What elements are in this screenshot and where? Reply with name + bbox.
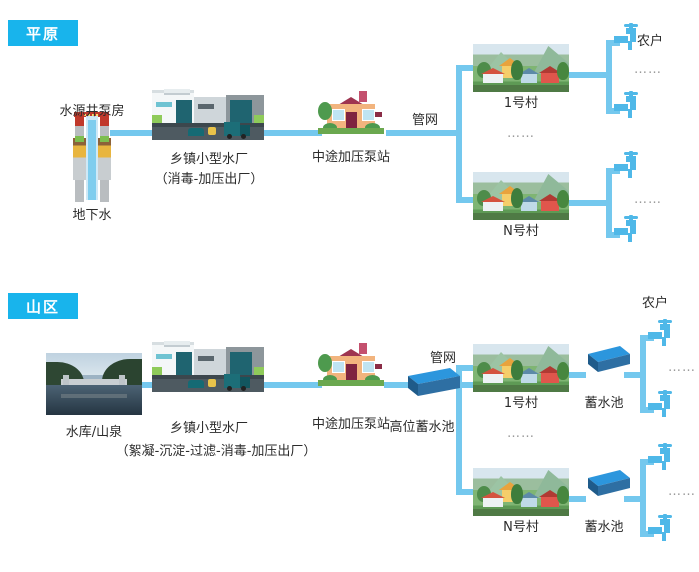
faucet-icon-plain-4 xyxy=(608,214,644,244)
diagram-canvas: 平原 水源井泵房 地下水 xyxy=(0,0,699,572)
house-window-right xyxy=(362,361,375,373)
plant-vent xyxy=(164,89,190,95)
village-ground xyxy=(473,509,569,516)
well-grass-right xyxy=(100,136,109,142)
plant-window-left xyxy=(156,354,172,359)
household-label-plain: 农户 xyxy=(637,34,663,50)
village-wall-white-left xyxy=(483,74,503,83)
village-ellipsis-plain: …… xyxy=(507,126,535,141)
village-house-white-left xyxy=(481,492,505,506)
plant-truck-trailer xyxy=(224,374,240,388)
high-tank-label: 高位蓄水池 xyxy=(389,420,454,436)
village-tree-right xyxy=(557,362,569,380)
village-label-plain-1: 1号村 xyxy=(504,96,538,112)
pipe-plant-to-booster xyxy=(262,130,322,136)
village-tree-right xyxy=(557,62,569,80)
house-window-right xyxy=(362,109,375,121)
tank-shape xyxy=(582,470,630,498)
pipe-plant-to-booster-m xyxy=(262,382,322,388)
source-label-mountain: 水库/山泉 xyxy=(66,425,122,441)
tank-shape xyxy=(398,368,460,398)
faucet-icon-mountain-4 xyxy=(642,513,678,543)
plant-truck-trailer xyxy=(224,122,240,136)
house-door xyxy=(346,112,357,129)
plant-truck-wheel-1 xyxy=(227,134,232,139)
plant-wing-mid xyxy=(194,97,226,123)
plant-truck-wheel-1 xyxy=(227,386,232,391)
plant-vent xyxy=(164,341,190,347)
village-tree-mid xyxy=(511,188,523,208)
village-house-white-left xyxy=(481,68,505,82)
plant-label-plain: 乡镇小型水厂 xyxy=(170,152,248,168)
village-house-white-left xyxy=(481,368,505,382)
plant-truck-wheel-2 xyxy=(241,134,246,139)
well-grass-left xyxy=(75,136,84,142)
house-ground xyxy=(318,128,384,134)
plant-bush-right xyxy=(254,115,264,123)
village-label-mountain-n: N号村 xyxy=(503,520,539,536)
booster-label-mountain: 中途加压泵站 xyxy=(312,417,390,433)
village-wall-white-left xyxy=(483,498,503,507)
network-label-plain: 管网 xyxy=(412,113,438,129)
tap-ellipsis-plain-2: …… xyxy=(634,192,662,207)
plant-truck-wheel-2 xyxy=(241,386,246,391)
plant-car-yellow xyxy=(208,127,216,135)
village-icon-plain-1 xyxy=(473,44,569,92)
well-water-column xyxy=(88,120,96,200)
village-ground xyxy=(473,85,569,92)
faucet-icon-mountain-1 xyxy=(642,318,678,348)
village-icon-plain-n xyxy=(473,172,569,220)
village-label-plain-n: N号村 xyxy=(503,224,539,240)
plant-door-right xyxy=(230,352,252,375)
source-label-plain: 水源井泵房 xyxy=(59,104,124,120)
village-tree-mid xyxy=(511,360,523,380)
plant-door-left xyxy=(176,100,192,123)
village-tree-right xyxy=(557,486,569,504)
plant-bush-right xyxy=(254,367,264,375)
village-tree-mid xyxy=(511,484,523,504)
plant-door-right xyxy=(230,100,252,123)
village-tree-right xyxy=(557,190,569,208)
faucet-icon-mountain-2 xyxy=(642,389,678,419)
reservoir-dam xyxy=(61,379,126,385)
village-wall-blue-mid xyxy=(521,374,537,383)
pipe-network-trunk-vertical xyxy=(456,65,462,203)
tap-ellipsis-mountain-1: …… xyxy=(668,360,696,375)
pump-station-house-icon-mountain xyxy=(318,340,384,388)
faucet-icon-mountain-3 xyxy=(642,442,678,472)
plant-window-left xyxy=(156,102,172,107)
village-wall-blue-mid xyxy=(521,74,537,83)
water-plant-icon-mountain xyxy=(152,338,264,392)
house-window-left xyxy=(332,361,345,373)
plant-window-mid xyxy=(198,356,214,361)
booster-label-plain: 中途加压泵站 xyxy=(312,150,390,166)
water-tank-icon-village-n xyxy=(582,470,630,498)
tank-shape xyxy=(582,346,630,374)
village-tank-label-1: 蓄水池 xyxy=(584,396,623,412)
village-icon-mountain-1 xyxy=(473,344,569,392)
village-tree-mid xyxy=(511,60,523,80)
plant-wing-mid xyxy=(194,349,226,375)
faucet-icon-plain-3 xyxy=(608,150,644,180)
village-tank-label-n: 蓄水池 xyxy=(584,520,623,536)
village-wall-white-left xyxy=(483,374,503,383)
village-icon-mountain-n xyxy=(473,468,569,516)
plant-process-plain: （消毒-加压出厂） xyxy=(155,172,264,188)
village-label-mountain-1: 1号村 xyxy=(504,396,538,412)
water-tank-icon-high xyxy=(398,368,460,398)
village-wall-white-left xyxy=(483,202,503,211)
plant-process-mountain: （絮凝-沉淀-过滤-消毒-加压出厂） xyxy=(116,444,317,460)
village-ground xyxy=(473,385,569,392)
faucet-icon-plain-2 xyxy=(608,90,644,120)
well-pump-house-icon xyxy=(72,112,112,202)
section-badge-plain: 平原 xyxy=(8,20,78,46)
plant-car-yellow xyxy=(208,379,216,387)
water-plant-icon xyxy=(152,86,264,140)
tap-ellipsis-mountain-2: …… xyxy=(668,484,696,499)
network-label-mountain: 管网 xyxy=(430,351,456,367)
water-tank-icon-village-1 xyxy=(582,346,630,374)
source-sublabel-plain: 地下水 xyxy=(72,208,111,224)
village-house-white-left xyxy=(481,196,505,210)
house-tree-left xyxy=(318,102,332,120)
house-window-left xyxy=(332,109,345,121)
reservoir-reflection xyxy=(61,394,126,398)
pipe-booster-to-network xyxy=(386,130,462,136)
plant-door-left xyxy=(176,352,192,375)
reservoir-photo-icon xyxy=(46,353,142,415)
plant-bush-left xyxy=(152,367,162,375)
house-door xyxy=(346,364,357,381)
village-wall-blue-mid xyxy=(521,202,537,211)
section-badge-mountain: 山区 xyxy=(8,293,78,319)
plant-label-mountain: 乡镇小型水厂 xyxy=(170,421,248,437)
pump-station-house-icon xyxy=(318,88,384,136)
tap-ellipsis-plain-1: …… xyxy=(634,62,662,77)
house-tree-left xyxy=(318,354,332,372)
reservoir-water xyxy=(46,385,142,415)
plant-bush-left xyxy=(152,115,162,123)
plant-car xyxy=(188,128,204,136)
plant-window-mid xyxy=(198,104,214,109)
plant-car xyxy=(188,380,204,388)
village-ground xyxy=(473,213,569,220)
village-ellipsis-mountain: …… xyxy=(507,426,535,441)
village-wall-blue-mid xyxy=(521,498,537,507)
house-ground xyxy=(318,380,384,386)
household-label-mountain: 农户 xyxy=(642,296,668,312)
